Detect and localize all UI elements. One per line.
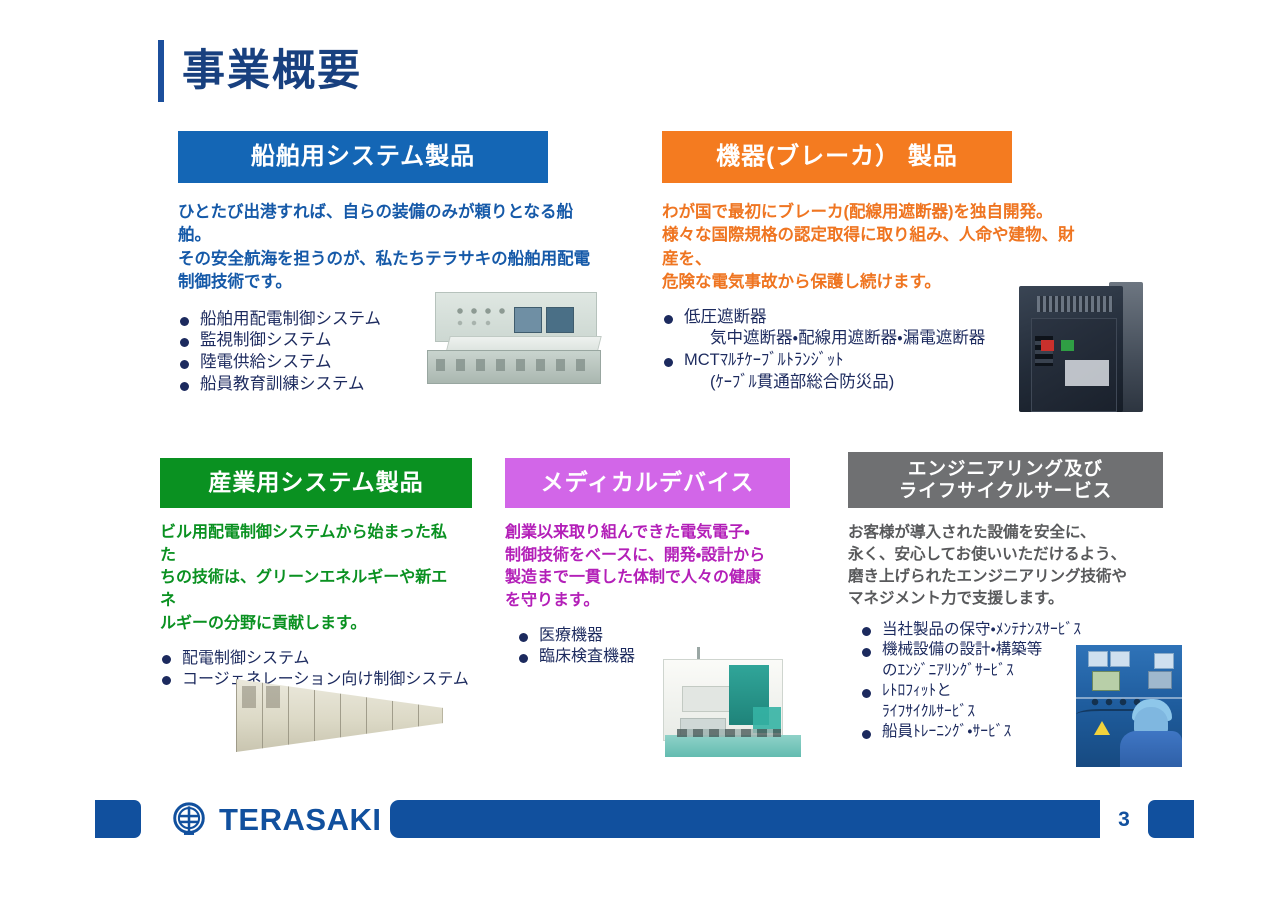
- page-title: 事業概要: [158, 40, 362, 102]
- section-header-line2: ライフサイクルサービス: [899, 480, 1113, 502]
- bullet-list-engineering: 当社製品の保守・ﾒﾝﾃﾅﾝｽｻｰﾋﾞｽ 機械設備の設計・構築等 のｴﾝｼﾞﾆｱﾘ…: [860, 620, 1092, 743]
- section-body-engineering: お客様が導入された設備を安全に、 永く、安心してお使いいただけるよう、 磨き上げ…: [848, 522, 1168, 610]
- console-panel: [435, 292, 597, 342]
- section-industrial: 産業用システム製品 ビル用配電制御システムから始まった私た ちの技術は、グリーン…: [160, 458, 490, 690]
- list-item: 当社製品の保守・ﾒﾝﾃﾅﾝｽｻｰﾋﾞｽ: [860, 620, 1092, 640]
- breaker-trip-button: [1041, 340, 1054, 351]
- breaker-body: [1019, 286, 1123, 412]
- breaker-vent: [1037, 296, 1113, 312]
- section-header-engineering: エンジニアリング及び ライフサイクルサービス: [848, 452, 1163, 508]
- section-header-breaker: 機器(ブレーカ） 製品: [662, 131, 1012, 183]
- list-item: 機械設備の設計・構築等: [860, 640, 1092, 660]
- list-item: 配電制御システム: [160, 648, 490, 669]
- list-item-sub: のｴﾝｼﾞﾆｱﾘﾝｸﾞｻｰﾋﾞｽ: [860, 661, 1092, 681]
- cabinet-meter: [1110, 651, 1130, 667]
- section-medical: メディカルデバイス 創業以来取り組んできた電気電子・ 制御技術をベースに、開発・…: [505, 458, 805, 667]
- photo-switchgear-lineup: [232, 672, 450, 758]
- list-item: MCTﾏﾙﾁｹｰﾌﾞﾙﾄﾗﾝｼﾞｯﾄ: [662, 350, 1062, 372]
- section-breaker: 機器(ブレーカ） 製品 わが国で最初にブレーカ(配線用遮断器)を独自開発。 様々…: [662, 131, 1062, 394]
- analyzer-sample-tray: [665, 735, 801, 757]
- list-item: 低圧遮断器: [662, 307, 1062, 329]
- console-base: [427, 350, 601, 384]
- section-header-line1: エンジニアリング及び: [908, 458, 1103, 480]
- console-screen-right: [546, 307, 574, 333]
- logo-wordmark: TERASAKI: [219, 804, 381, 835]
- list-item-sub: 気中遮断器・配線用遮断器・漏電遮断器: [662, 328, 1062, 350]
- cabinet-meter: [1154, 653, 1174, 669]
- photo-marine-console: [421, 288, 611, 386]
- list-item: 船員ﾄﾚｰﾆﾝｸﾞ・ｻｰﾋﾞｽ: [860, 722, 1092, 742]
- breaker-rating-label: [1065, 360, 1109, 386]
- section-header-industrial: 産業用システム製品: [160, 458, 472, 508]
- section-body-medical: 創業以来取り組んできた電気電子・ 制御技術をベースに、開発・設計から 製造まで一…: [505, 522, 795, 613]
- list-item-sub: (ｹｰﾌﾞﾙ貫通部総合防災品): [662, 372, 1062, 394]
- section-body-industrial: ビル用配電制御システムから始まった私た ちの技術は、グリーンエネルギーや新エネ …: [160, 522, 460, 636]
- section-body-breaker: わが国で最初にブレーカ(配線用遮断器)を独自開発。 様々な国際規格の認定取得に取…: [662, 201, 1082, 295]
- control-cabinet: [1076, 645, 1182, 767]
- bullet-list-breaker: 低圧遮断器 気中遮断器・配線用遮断器・漏電遮断器 MCTﾏﾙﾁｹｰﾌﾞﾙﾄﾗﾝｼ…: [662, 307, 1062, 394]
- title-text: 事業概要: [182, 50, 362, 93]
- photo-field-service: [1076, 645, 1182, 767]
- warning-label-icon: [1094, 721, 1110, 735]
- footer-left-tab: [95, 800, 141, 838]
- title-accent-bar: [158, 40, 164, 102]
- switchgear-instrument-panels: [242, 686, 312, 708]
- analyzer-screen: [682, 686, 730, 712]
- cabinet-panel-divider: [1076, 697, 1182, 699]
- terasaki-logo: TERASAKI: [168, 798, 381, 840]
- console-screen-left: [514, 307, 542, 333]
- section-header-medical: メディカルデバイス: [505, 458, 790, 508]
- footer-bar: [390, 800, 1100, 838]
- list-item: 医療機器: [517, 625, 805, 646]
- section-header-marine: 船舶用システム製品: [178, 131, 548, 183]
- cabinet-cable: [1076, 709, 1138, 723]
- footer-right-tab: [1148, 800, 1194, 838]
- photo-air-circuit-breaker: [1013, 282, 1145, 416]
- breaker-close-button: [1061, 340, 1074, 351]
- page-number: 3: [1110, 808, 1138, 832]
- photo-clinical-analyzer: [655, 645, 815, 765]
- cabinet-display-secondary: [1148, 671, 1172, 689]
- console-knobs: [454, 305, 510, 331]
- list-item: ﾚﾄﾛﾌｨｯﾄと: [860, 681, 1092, 701]
- slide: 事業概要 船舶用システム製品 ひとたび出港すれば、自らの装備のみが頼りとなる船舶…: [0, 0, 1280, 904]
- worker-body: [1120, 731, 1182, 767]
- cabinet-display: [1092, 671, 1120, 691]
- section-body-marine: ひとたび出港すれば、自らの装備のみが頼りとなる船舶。 その安全航海を担うのが、私…: [178, 201, 598, 295]
- list-item-sub: ﾗｲﾌｻｲｸﾙｻｰﾋﾞｽ: [860, 702, 1092, 722]
- cabinet-meter: [1088, 651, 1108, 667]
- terasaki-emblem-icon: [168, 798, 210, 840]
